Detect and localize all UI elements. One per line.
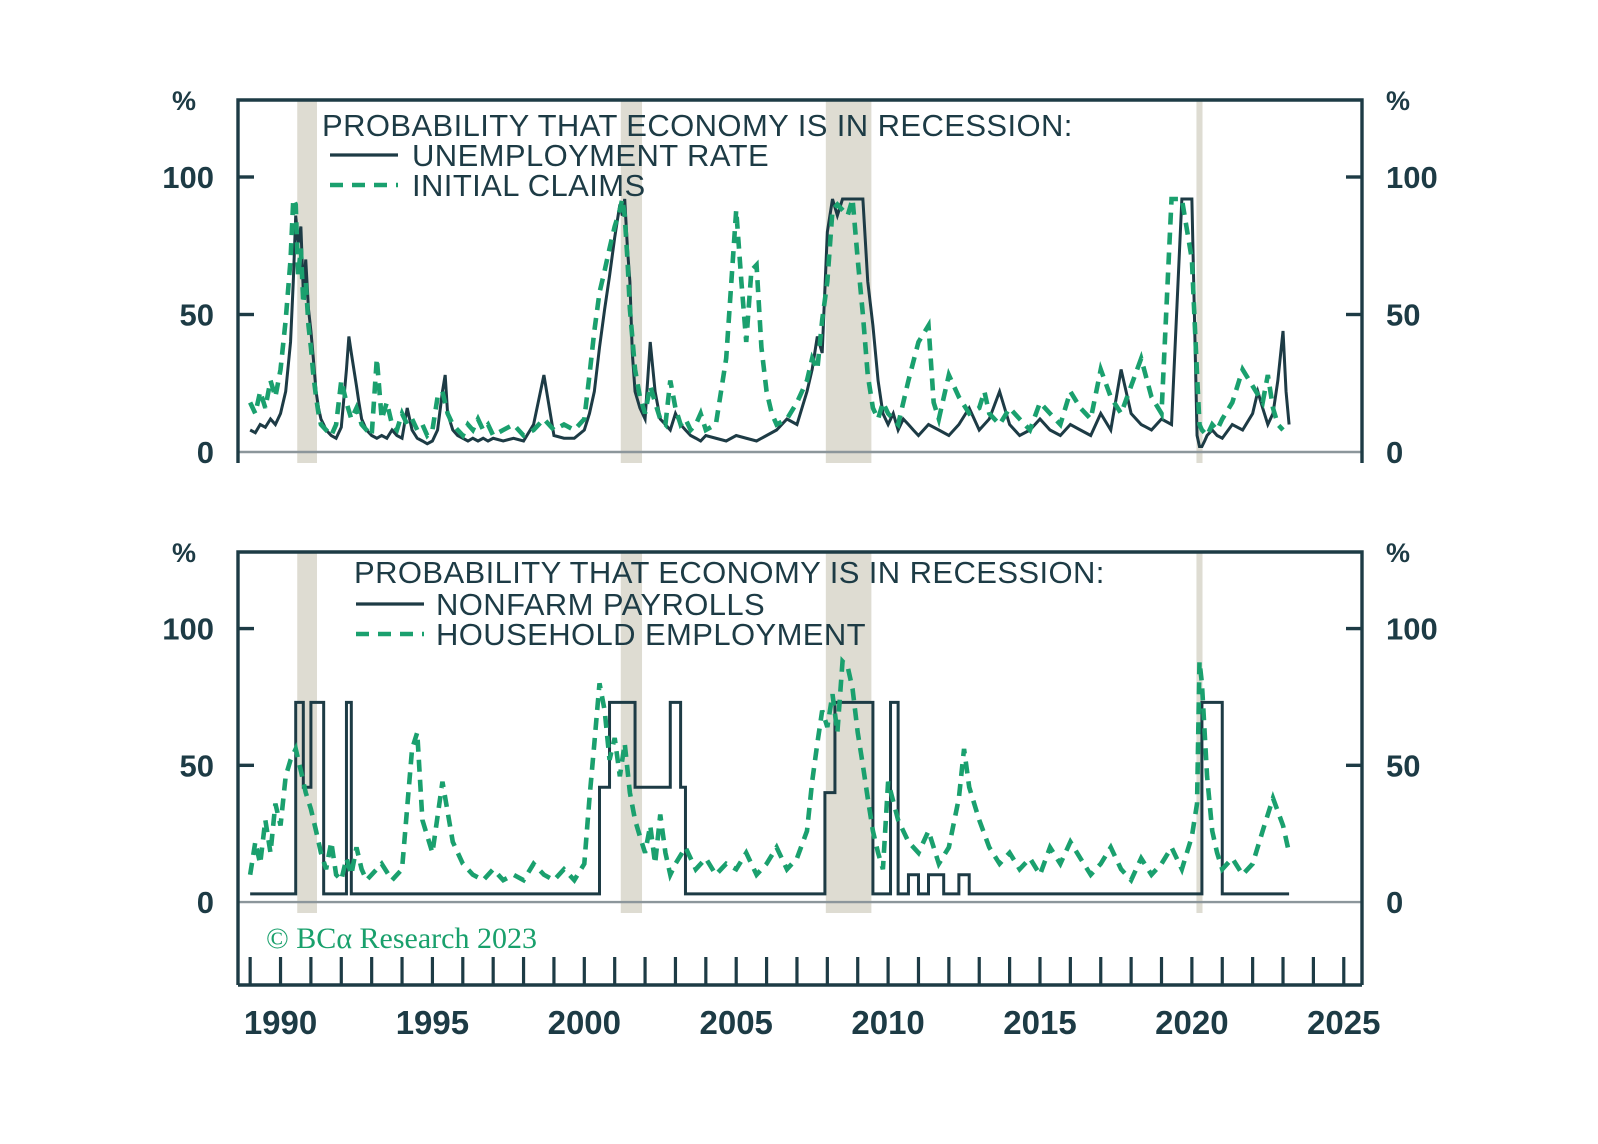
x-tick-label-7: 2025 — [1307, 1004, 1380, 1041]
recession-band-2 — [826, 552, 872, 913]
y-tick-label-right-1: 50 — [1386, 298, 1420, 333]
y-tick-label-left-1: 50 — [180, 298, 214, 333]
x-tick-label-3: 2005 — [699, 1004, 772, 1041]
y-tick-label-right-2: 0 — [1386, 885, 1403, 920]
x-tick-label-2: 2000 — [548, 1004, 621, 1041]
bottom-left-axis-unit: % — [172, 538, 196, 568]
recession-probability-figure: % % 100100505000 % % 100100505000 199019… — [0, 0, 1598, 1144]
y-tick-label-left-1: 50 — [180, 748, 214, 783]
x-tick-label-1: 1995 — [396, 1004, 469, 1041]
y-tick-label-right-0: 100 — [1386, 160, 1438, 195]
y-tick-label-left-0: 100 — [162, 612, 214, 647]
x-tick-label-4: 2010 — [851, 1004, 924, 1041]
top-left-axis-unit: % — [172, 86, 196, 116]
top-legend-item-1-label: INITIAL CLAIMS — [412, 168, 646, 203]
y-tick-label-right-2: 0 — [1386, 435, 1403, 470]
x-tick-label-5: 2015 — [1003, 1004, 1076, 1041]
recession-band-2 — [826, 100, 872, 463]
y-tick-label-left-0: 100 — [162, 160, 214, 195]
recession-band-0 — [297, 552, 317, 913]
y-tick-label-left-2: 0 — [197, 885, 214, 920]
bottom-right-axis-unit: % — [1386, 538, 1410, 568]
y-tick-label-right-1: 50 — [1386, 748, 1420, 783]
chart-page: % % 100100505000 % % 100100505000 199019… — [0, 0, 1598, 1144]
y-tick-label-left-2: 0 — [197, 435, 214, 470]
copyright-notice: © BCα Research 2023 — [266, 922, 537, 955]
x-tick-label-6: 2020 — [1155, 1004, 1228, 1041]
bottom-legend-item-1-label: HOUSEHOLD EMPLOYMENT — [436, 617, 866, 652]
bottom-legend-title: PROBABILITY THAT ECONOMY IS IN RECESSION… — [354, 555, 1105, 590]
y-tick-label-right-0: 100 — [1386, 612, 1438, 647]
top-right-axis-unit: % — [1386, 86, 1410, 116]
x-tick-label-0: 1990 — [244, 1004, 317, 1041]
